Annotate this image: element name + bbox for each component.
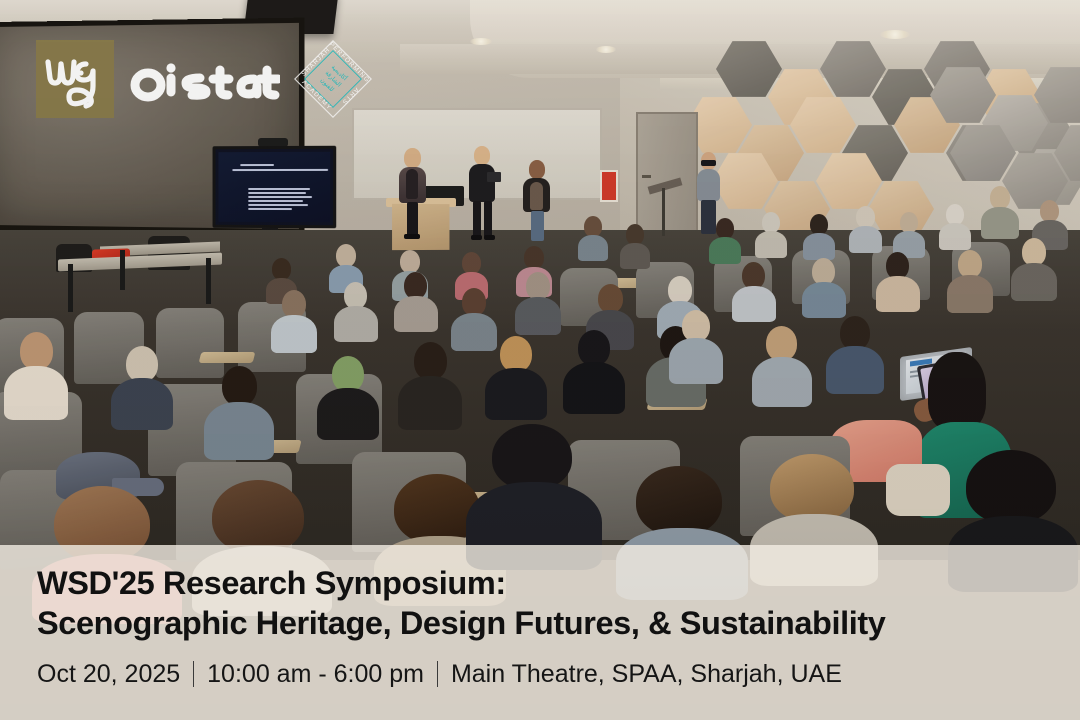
ceiling-light — [470, 38, 492, 45]
title-overlay-banner: WSD'25 Research Symposium: Scenographic … — [0, 545, 1080, 720]
presentation-monitor — [213, 146, 337, 229]
meta-separator — [193, 661, 194, 687]
symposium-title-line-2: Scenographic Heritage, Design Futures, &… — [37, 603, 1052, 643]
table-leg — [68, 264, 73, 312]
oistat-logo — [128, 52, 280, 108]
event-time: 10:00 am - 6:00 pm — [207, 659, 424, 689]
spaa-logo: PERFORMING ACADEMY SHARJAH ARTS أكاديمية… — [292, 38, 374, 120]
meta-separator — [437, 661, 438, 687]
exit-door — [636, 112, 698, 236]
event-venue: Main Theatre, SPAA, Sharjah, UAE — [451, 659, 842, 689]
seat-tablet-arm — [199, 352, 256, 363]
table-leg — [120, 250, 125, 290]
music-stand-pole — [662, 188, 665, 236]
door-handle — [642, 175, 651, 178]
ceiling-light — [596, 46, 616, 53]
event-date: Oct 20, 2025 — [37, 659, 180, 689]
auditorium-seat — [156, 308, 224, 378]
event-poster: PERFORMING ACADEMY SHARJAH ARTS أكاديمية… — [0, 0, 1080, 720]
slide-content — [218, 152, 330, 222]
wsd-logo — [36, 40, 114, 118]
event-meta: Oct 20, 2025 10:00 am - 6:00 pm Main The… — [37, 659, 1052, 689]
fire-extinguisher-cabinet — [600, 170, 618, 202]
svg-text:ARTS: ARTS — [340, 86, 360, 106]
podium — [392, 204, 449, 250]
table-leg — [206, 258, 211, 304]
symposium-title-line-1: WSD'25 Research Symposium: — [37, 563, 1052, 603]
